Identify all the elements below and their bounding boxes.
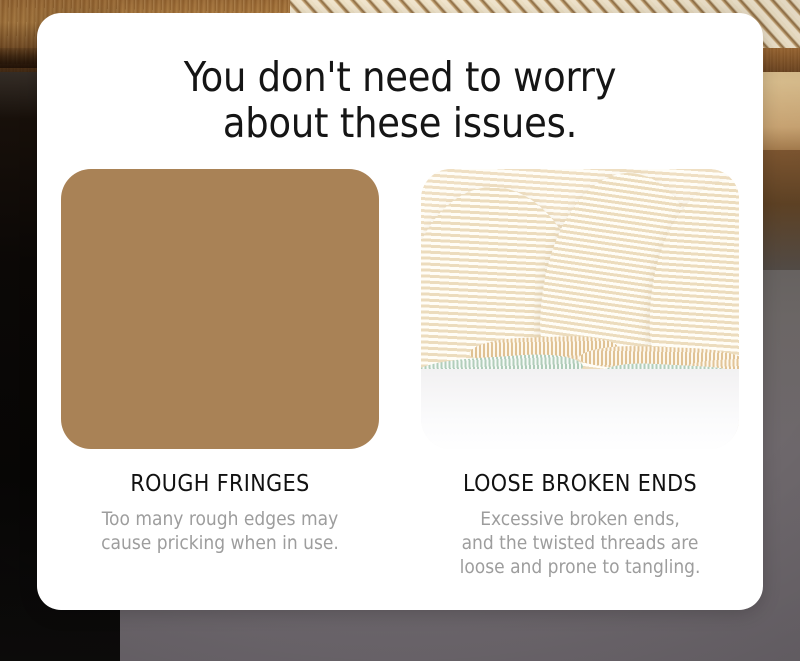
rough-fringes-description: Too many rough edges may cause pricking … — [61, 507, 379, 556]
content-card: You don't need to worry about these issu… — [37, 13, 763, 610]
loose-broken-ends-description: Excessive broken ends, and the twisted t… — [421, 507, 739, 580]
page-title-line-2: about these issues. — [77, 100, 723, 146]
rough-fringes-photo — [61, 169, 379, 449]
feature-column-rough-fringes: ROUGH FRINGES Too many rough edges may c… — [61, 169, 379, 580]
loose-broken-ends-description-line-2: and the twisted threads are — [421, 531, 739, 555]
rough-fringes-title: ROUGH FRINGES — [61, 471, 379, 497]
page-title: You don't need to worry about these issu… — [37, 13, 763, 147]
page-title-line-1: You don't need to worry — [77, 54, 723, 100]
loose-broken-ends-title: LOOSE BROKEN ENDS — [421, 471, 739, 497]
white-surface — [421, 369, 739, 449]
page-root: You don't need to worry about these issu… — [0, 0, 800, 661]
loose-broken-ends-photo — [421, 169, 739, 449]
rough-fringes-description-line-1: Too many rough edges may — [61, 507, 379, 531]
feature-column-loose-broken-ends: LOOSE BROKEN ENDS Excessive broken ends,… — [421, 169, 739, 580]
loose-broken-ends-description-line-1: Excessive broken ends, — [421, 507, 739, 531]
rough-fringes-description-line-2: cause pricking when in use. — [61, 531, 379, 555]
loose-broken-ends-description-line-3: loose and prone to tangling. — [421, 555, 739, 579]
feature-columns: ROUGH FRINGES Too many rough edges may c… — [37, 147, 763, 580]
